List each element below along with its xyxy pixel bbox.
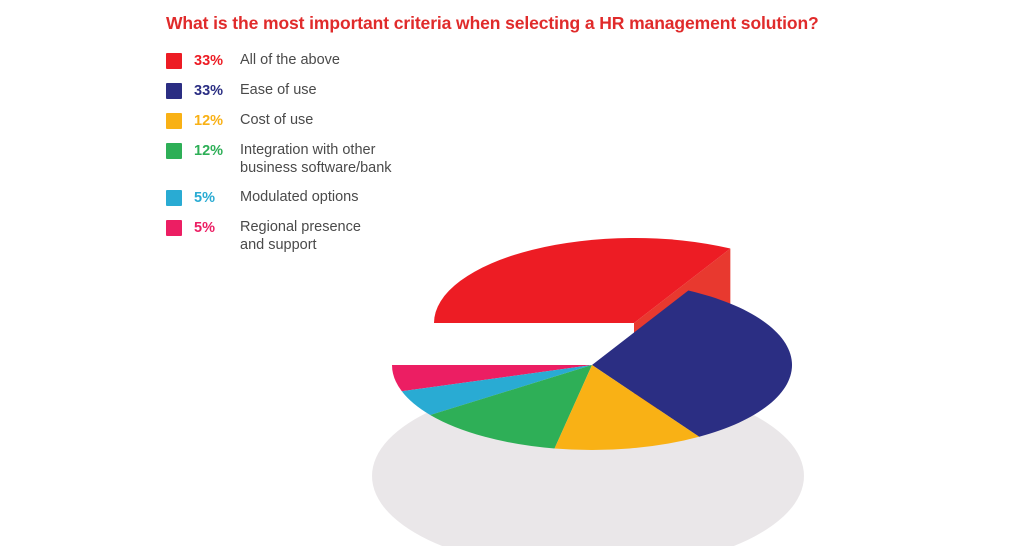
legend-swatch-icon — [166, 220, 182, 236]
legend-percent: 12% — [194, 112, 240, 130]
legend-percent: 12% — [194, 142, 240, 160]
legend-percent: 33% — [194, 82, 240, 100]
legend-swatch-icon — [166, 53, 182, 69]
legend-label: Regional presence and support — [240, 219, 361, 254]
legend-label: Ease of use — [240, 82, 317, 100]
legend-percent: 33% — [194, 52, 240, 70]
legend-label: All of the above — [240, 52, 340, 70]
legend-percent: 5% — [194, 219, 240, 237]
legend-swatch-icon — [166, 190, 182, 206]
legend-label: Cost of use — [240, 112, 313, 130]
legend-percent: 5% — [194, 189, 240, 207]
legend-swatch-icon — [166, 143, 182, 159]
legend-swatch-icon — [166, 113, 182, 129]
legend-item-ease-of-use[interactable]: 33% Ease of use — [166, 82, 466, 100]
pie-top-faces — [392, 238, 792, 450]
legend-label: Modulated options — [240, 189, 359, 207]
pie-svg — [352, 150, 892, 530]
legend-item-all-of-the-above[interactable]: 33% All of the above — [166, 52, 466, 70]
pie-3d-graphic — [352, 150, 892, 530]
pie-chart-figure: What is the most important criteria when… — [0, 0, 1024, 546]
legend-swatch-icon — [166, 83, 182, 99]
chart-title: What is the most important criteria when… — [166, 12, 886, 34]
legend-item-cost-of-use[interactable]: 12% Cost of use — [166, 112, 466, 130]
